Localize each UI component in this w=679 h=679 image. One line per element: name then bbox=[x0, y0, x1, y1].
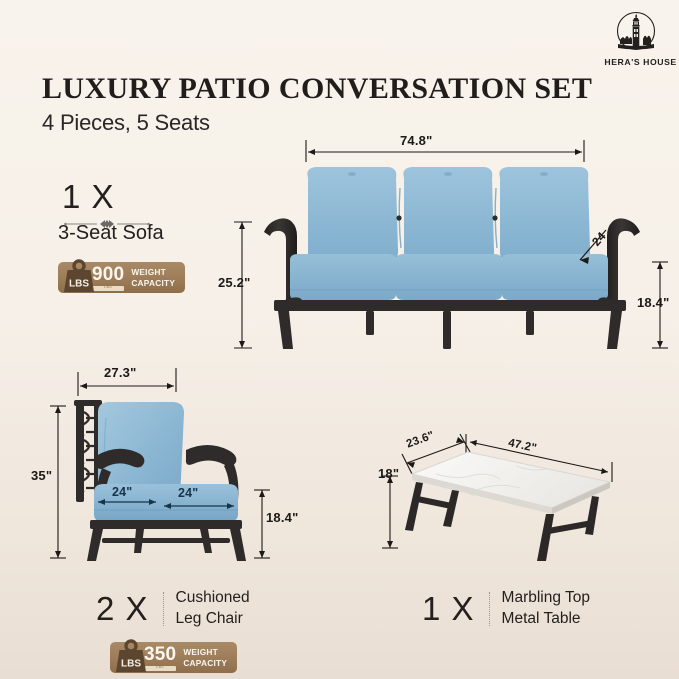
brand-name: HERA'S HOUSE bbox=[604, 57, 667, 67]
table-qty: 1 X bbox=[422, 590, 475, 628]
chair-badge-caption-line1: WEIGHT bbox=[183, 647, 227, 657]
table-name-line2: Metal Table bbox=[502, 609, 590, 630]
chair-name-line2: Leg Chair bbox=[176, 609, 250, 630]
sofa-badge-caption: WEIGHT CAPACITY bbox=[131, 267, 175, 287]
sofa-back-cushions bbox=[307, 167, 590, 261]
chair-illustration bbox=[36, 360, 326, 565]
chair-weight-capacity-badge: LBS 350 LBS WEIGHT CAPACITY bbox=[110, 642, 237, 673]
chair-legs bbox=[87, 520, 246, 561]
table-item-row: 1 X Marbling Top Metal Table bbox=[422, 588, 590, 629]
chair-item-row: 2 X Cushioned Leg Chair bbox=[96, 588, 250, 629]
weight-icon-lbs-label: LBS bbox=[69, 279, 89, 290]
sofa-seat-height-label: 18.4" bbox=[637, 295, 669, 310]
chair-badge-caption: WEIGHT CAPACITY bbox=[183, 647, 227, 667]
infographic-canvas: HERA'S HOUSE LUXURY PATIO CONVERSATION S… bbox=[0, 0, 679, 679]
chair-badge-caption-line2: CAPACITY bbox=[183, 658, 227, 668]
sofa-qty: 1 X bbox=[62, 180, 150, 213]
weight-icon-lbs-label: LBS bbox=[121, 659, 141, 670]
sofa-width-label: 74.8" bbox=[400, 133, 432, 148]
brand-logo: HERA'S HOUSE bbox=[605, 8, 667, 67]
sofa-badge-unit-bar: LBS bbox=[92, 286, 124, 291]
table-name: Marbling Top Metal Table bbox=[502, 588, 590, 629]
sofa-badge-unit: LBS bbox=[104, 286, 112, 290]
page-subtitle: 4 Pieces, 5 Seats bbox=[42, 110, 210, 136]
table-name-line1: Marbling Top bbox=[502, 588, 590, 609]
chair-height-dimension-line bbox=[50, 406, 66, 558]
chair-height-label: 35" bbox=[31, 468, 52, 483]
chair-qty: 2 X bbox=[96, 590, 149, 628]
sofa-weight-capacity-badge: LBS 900 LBS WEIGHT CAPACITY bbox=[58, 262, 185, 293]
chair-seat-depth-left-label: 24" bbox=[112, 485, 132, 499]
sofa-badge-caption-line1: WEIGHT bbox=[131, 267, 175, 277]
sofa-name: 3-Seat Sofa bbox=[58, 222, 164, 245]
chair-name-line1: Cushioned bbox=[176, 588, 250, 609]
sofa-badge-value: 900 bbox=[92, 265, 124, 284]
sofa-badge-caption-line2: CAPACITY bbox=[131, 278, 175, 288]
table-height-label: 18" bbox=[378, 466, 399, 481]
chair-badge-value-group: 350 LBS bbox=[144, 645, 176, 671]
sofa-legs bbox=[274, 297, 626, 349]
lighthouse-circle-icon bbox=[612, 8, 660, 56]
sofa-height-label: 25.2" bbox=[218, 275, 250, 290]
chair-badge-unit: LBS bbox=[156, 666, 164, 670]
sofa-width-dimension-line bbox=[306, 140, 584, 162]
sofa-badge-value-group: 900 LBS bbox=[92, 265, 124, 291]
page-title: LUXURY PATIO CONVERSATION SET bbox=[42, 72, 592, 106]
chair-seat-height-label: 18.4" bbox=[266, 510, 298, 525]
chair-badge-unit-bar: LBS bbox=[144, 666, 176, 671]
weight-icon: LBS bbox=[114, 638, 148, 674]
table-row-divider bbox=[489, 592, 490, 626]
sofa-seat-cushions bbox=[290, 254, 608, 300]
sofa-illustration bbox=[232, 130, 672, 355]
weight-icon: LBS bbox=[62, 258, 96, 294]
chair-row-divider bbox=[163, 592, 164, 626]
table-height-dimension-line bbox=[382, 476, 398, 548]
chair-badge-value: 350 bbox=[144, 645, 176, 664]
chair-width-label: 27.3" bbox=[104, 365, 136, 380]
chair-name: Cushioned Leg Chair bbox=[176, 588, 250, 629]
chair-seat-depth-right-label: 24" bbox=[178, 486, 198, 500]
